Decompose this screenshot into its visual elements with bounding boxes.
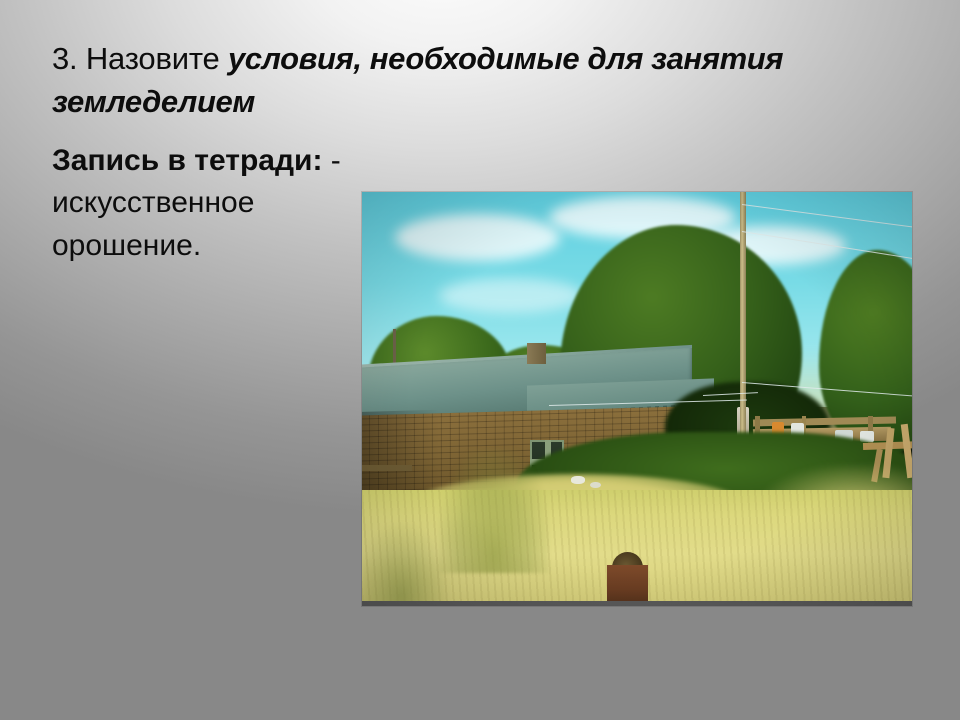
dry-grass-tuft bbox=[439, 449, 549, 573]
rusty-machine-base bbox=[607, 565, 648, 606]
body-lead: Запись в тетради: bbox=[52, 144, 322, 177]
cloud-shape bbox=[395, 214, 560, 261]
slide-photo bbox=[362, 192, 912, 606]
photo-bottom-edge bbox=[362, 601, 912, 606]
presentation-slide: 3. Назовите условия, необходимые для зан… bbox=[0, 0, 960, 720]
house-chimney bbox=[527, 343, 546, 364]
white-stone bbox=[571, 476, 585, 484]
dry-grass-tuft bbox=[362, 523, 450, 606]
slide-text-block: 3. Назовите условия, необходимые для зан… bbox=[52, 38, 352, 267]
house-wall-ledge bbox=[362, 465, 412, 471]
slide-heading: 3. Назовите условия, необходимые для зан… bbox=[52, 38, 797, 124]
heading-number-lead: 3. Назовите bbox=[52, 41, 228, 76]
slide-body-text: Запись в тетради: - искусственное орошен… bbox=[52, 140, 342, 268]
cloud-shape bbox=[439, 278, 582, 312]
